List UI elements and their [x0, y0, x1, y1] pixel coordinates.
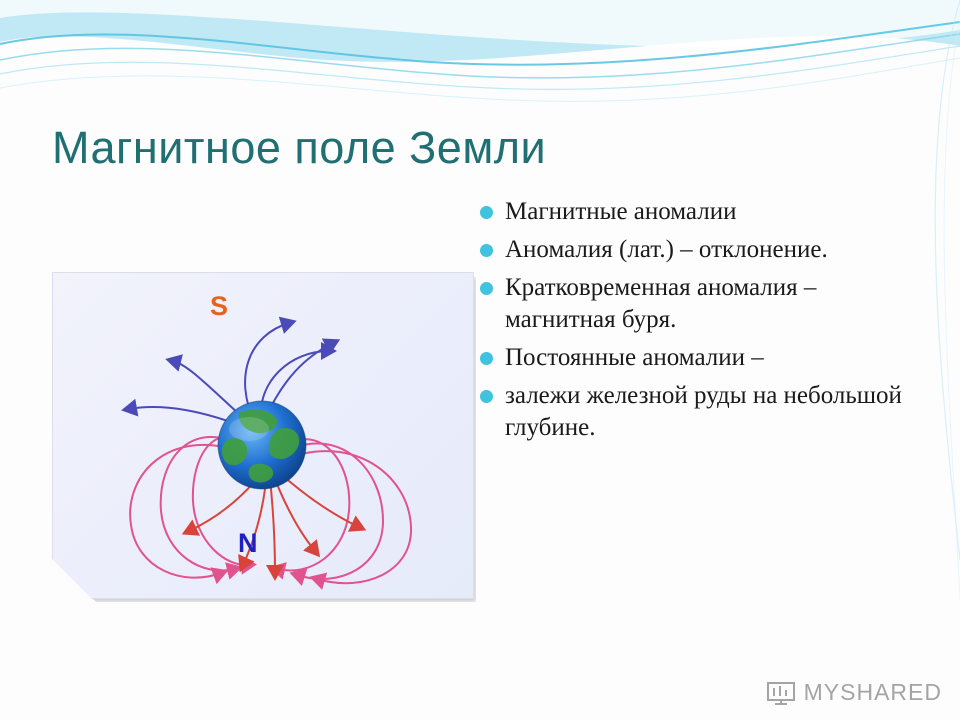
decorative-swoosh-top [0, 0, 960, 120]
bullet-dot-icon [480, 390, 493, 403]
bullet-text: залежи железной руды на небольшой глубин… [505, 380, 932, 444]
list-item: Магнитные аномалии [480, 196, 932, 228]
list-item: Кратковременная аномалия – магнитная бур… [480, 272, 932, 336]
bullet-text: Аномалия (лат.) – отклонение. [505, 234, 932, 266]
slide: Магнитное поле Земли [0, 0, 960, 720]
pole-label-north: N [238, 528, 258, 559]
page-title: Магнитное поле Земли [52, 122, 546, 174]
bullet-dot-icon [480, 282, 493, 295]
list-item: залежи железной руды на небольшой глубин… [480, 380, 932, 444]
magnetic-field-figure: S N [52, 272, 472, 597]
pole-label-south: S [210, 291, 228, 322]
presentation-board-icon [766, 680, 796, 706]
figure-canvas: S N [52, 272, 474, 599]
watermark-text: MYSHARED [804, 679, 942, 706]
bullet-dot-icon [480, 206, 493, 219]
bullet-text: Постоянные аномалии – [505, 342, 932, 374]
bullet-dot-icon [480, 244, 493, 257]
list-item: Постоянные аномалии – [480, 342, 932, 374]
bullet-list: Магнитные аномалии Аномалия (лат.) – отк… [480, 196, 932, 450]
earth-magnetic-field-svg [53, 273, 473, 598]
bullet-text: Магнитные аномалии [505, 196, 932, 228]
bullet-dot-icon [480, 352, 493, 365]
list-item: Аномалия (лат.) – отклонение. [480, 234, 932, 266]
bullet-text: Кратковременная аномалия – магнитная бур… [505, 272, 932, 336]
watermark: MYSHARED [766, 679, 942, 706]
